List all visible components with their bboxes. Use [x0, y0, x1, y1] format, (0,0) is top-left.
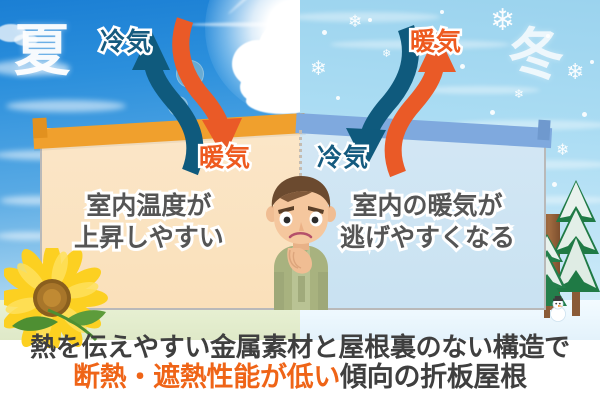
caption-line-2-rest: 傾向の折板屋根 — [340, 362, 527, 393]
winter-roof-edge — [537, 120, 550, 141]
summer-cold-air-label: 冷気 — [100, 22, 152, 58]
caption-highlight: 断熱・遮熱性能が低い — [73, 362, 340, 393]
illustration-canvas: ❄ ❄ ❄ ❄ ❄ ❄ ❄ ❄ ❄ ❄ — [0, 0, 600, 400]
snowflake-icon: ❄ — [566, 62, 584, 84]
winter-interior-line2: 逃げやすくなる — [340, 222, 515, 254]
caption-line-2: 断熱・遮熱性能が低い傾向の折板屋根 — [0, 363, 600, 393]
season-label-summer: 夏 — [14, 6, 72, 87]
snowflake-icon: ❄ — [556, 142, 569, 158]
winter-warm-air-label: 暖気 — [410, 22, 462, 58]
winter-interior-message: 室内の暖気が 逃げやすくなる — [340, 190, 515, 254]
caption-line-1: 熱を伝えやすい金属素材と屋根裏のない構造で — [0, 334, 600, 363]
snowman-icon — [545, 296, 571, 322]
summer-interior-line2: 上昇しやすい — [74, 222, 224, 254]
worried-man-icon — [258, 176, 344, 310]
caption: 熱を伝えやすい金属素材と屋根裏のない構造で 断熱・遮熱性能が低い傾向の折板屋根 — [0, 334, 600, 393]
winter-interior-line1: 室内の暖気が — [340, 190, 515, 222]
season-label-winter: 冬 — [508, 10, 566, 91]
summer-interior-message: 室内温度が 上昇しやすい — [74, 190, 224, 254]
summer-warm-air-label: 暖気 — [199, 138, 251, 174]
summer-roof-edge — [32, 118, 47, 139]
winter-cold-air-label: 冷気 — [317, 138, 369, 174]
summer-interior-line1: 室内温度が — [74, 190, 224, 222]
snowflake-icon: ❄ — [310, 58, 327, 78]
